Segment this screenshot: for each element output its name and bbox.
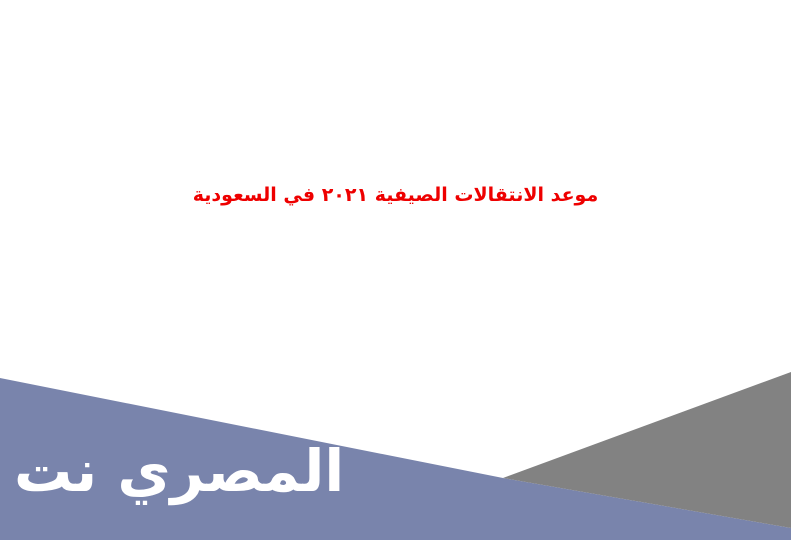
cover-canvas: موعد الانتقالات الصيفية ٢٠٢١ في السعودية… xyxy=(0,0,791,540)
page-title: موعد الانتقالات الصيفية ٢٠٢١ في السعودية xyxy=(0,178,791,212)
site-logo-watermark: المصري نت xyxy=(14,437,344,505)
